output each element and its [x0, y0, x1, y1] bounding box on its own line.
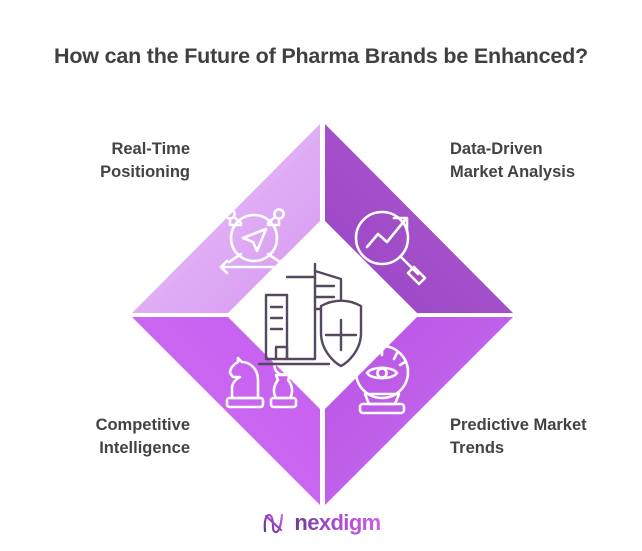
- pharma-building-shield-icon: [259, 264, 361, 366]
- label-competitive-intelligence: Competitive Intelligence: [0, 414, 190, 461]
- quadrant-bottom-left[interactable]: [132, 317, 320, 505]
- nexdigm-logo: nexdigm: [0, 510, 642, 536]
- label-predictive-market-trends: Predictive Market Trends: [450, 414, 642, 461]
- nexdigm-n-mark-icon: [261, 510, 287, 536]
- label-data-driven-market-analysis: Data-Driven Market Analysis: [450, 138, 642, 185]
- nexdigm-wordmark: nexdigm: [294, 510, 380, 536]
- infographic-root: How can the Future of Pharma Brands be E…: [0, 0, 642, 551]
- page-title: How can the Future of Pharma Brands be E…: [0, 44, 642, 69]
- label-real-time-positioning: Real-Time Positioning: [0, 138, 190, 185]
